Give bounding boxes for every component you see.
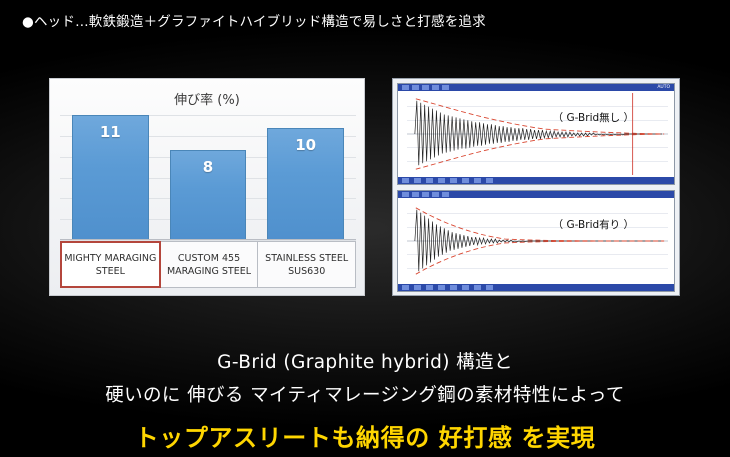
category-line-1: MIGHTY MARAGING xyxy=(64,252,156,265)
scope-bottom-bar xyxy=(398,177,674,184)
bar-stainless-steel-sus630: 10 xyxy=(267,128,344,241)
category-cell-stainless-steel: STAINLESS STEEL SUS630 xyxy=(257,241,356,288)
chart-title: 伸び率 (%) xyxy=(50,89,364,108)
caption-line-1: G-Brid (Graphite hybrid) 構造と xyxy=(0,348,730,374)
scope-label-without-gbrid: （ G-Brid無し ） xyxy=(553,110,634,125)
scope-title-bar: AUTO xyxy=(398,84,674,91)
category-line-1: CUSTOM 455 xyxy=(178,252,240,265)
chart-baseline xyxy=(60,239,356,240)
bar-series: 11 8 10 xyxy=(60,115,356,240)
scope-corner-note: AUTO xyxy=(657,85,670,90)
category-cell-mighty-maraging-steel: MIGHTY MARAGING STEEL xyxy=(60,241,161,288)
category-line-2: STEEL xyxy=(96,265,125,278)
bar-value-label: 10 xyxy=(268,136,343,154)
scope-plot-area xyxy=(407,200,668,282)
category-cell-custom-455: CUSTOM 455 MARAGING STEEL xyxy=(160,241,259,288)
vibration-analysis-panel: AUTO xyxy=(392,78,680,296)
category-line-2: MARAGING STEEL xyxy=(167,265,251,278)
scope-graph-with-gbrid: （ G-Brid有り ） xyxy=(397,190,675,292)
scope-bottom-bar xyxy=(398,284,674,291)
category-line-1: STAINLESS STEEL xyxy=(265,252,348,265)
caption-line-3-highlight: トップアスリートも納得の 好打感 を実現 xyxy=(0,418,730,453)
elongation-bar-chart-panel: 伸び率 (%) 11 8 10 MIGHTY MARAGING xyxy=(49,78,365,296)
category-label-row: MIGHTY MARAGING STEEL CUSTOM 455 MARAGIN… xyxy=(60,241,356,288)
caption-line-2: 硬いのに 伸びる マイティマレージング鋼の素材特性によって xyxy=(0,381,730,407)
bar-mighty-maraging-steel: 11 xyxy=(72,115,149,240)
waveform-svg xyxy=(407,200,668,282)
scope-graph-without-gbrid: AUTO xyxy=(397,83,675,185)
bar-value-label: 11 xyxy=(73,123,148,141)
category-line-2: SUS630 xyxy=(288,265,325,278)
scope-title-bar xyxy=(398,191,674,198)
bar-custom-455-maraging-steel: 8 xyxy=(170,150,247,240)
bar-value-label: 8 xyxy=(171,158,246,176)
scope-label-with-gbrid: （ G-Brid有り ） xyxy=(553,217,634,232)
waveform-svg xyxy=(407,93,668,175)
slide-background: ●ヘッド…軟鉄鍛造＋グラファイトハイブリッド構造で易しさと打感を追求 伸び率 (… xyxy=(0,0,730,457)
scope-plot-area xyxy=(407,93,668,175)
headline-text: ●ヘッド…軟鉄鍛造＋グラファイトハイブリッド構造で易しさと打感を追求 xyxy=(22,10,486,30)
